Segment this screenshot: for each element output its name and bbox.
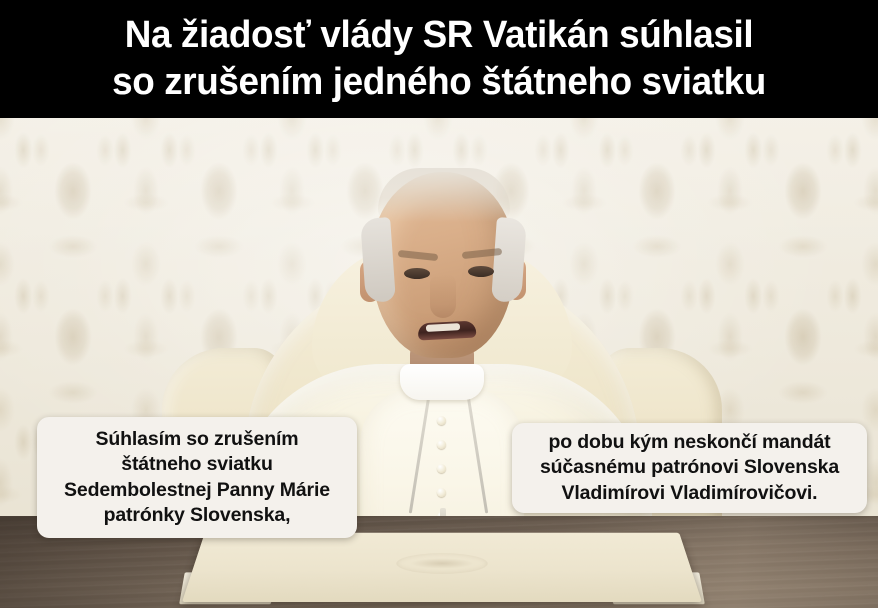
headline-line-1: Na žiadosť vlády SR Vatikán súhlasil bbox=[125, 12, 754, 59]
caption-left: Súhlasím so zrušením štátneho sviatku Se… bbox=[37, 417, 357, 538]
caption-left-text: Súhlasím so zrušením štátneho sviatku Se… bbox=[64, 427, 330, 529]
headline-line-2: so zrušením jedného štátneho sviatku bbox=[112, 59, 766, 106]
cassock-button bbox=[437, 488, 446, 497]
cassock-button bbox=[437, 416, 446, 425]
eye-left bbox=[404, 268, 430, 279]
clerical-collar bbox=[400, 364, 484, 400]
desk-blotter bbox=[182, 533, 702, 602]
hair-crown bbox=[378, 168, 510, 222]
caption-right: po dobu kým neskončí mandát súčasnému pa… bbox=[512, 423, 867, 513]
image-canvas: Na žiadosť vlády SR Vatikán súhlasil so … bbox=[0, 0, 878, 608]
hair-left bbox=[360, 217, 396, 303]
caption-right-text: po dobu kým neskončí mandát súčasnému pa… bbox=[540, 430, 839, 507]
cassock-button bbox=[437, 440, 446, 449]
nose bbox=[430, 274, 456, 318]
eye-right bbox=[468, 266, 494, 277]
headline-banner: Na žiadosť vlády SR Vatikán súhlasil so … bbox=[0, 0, 878, 118]
blotter-emblem-icon bbox=[396, 553, 489, 574]
cassock-button bbox=[437, 464, 446, 473]
